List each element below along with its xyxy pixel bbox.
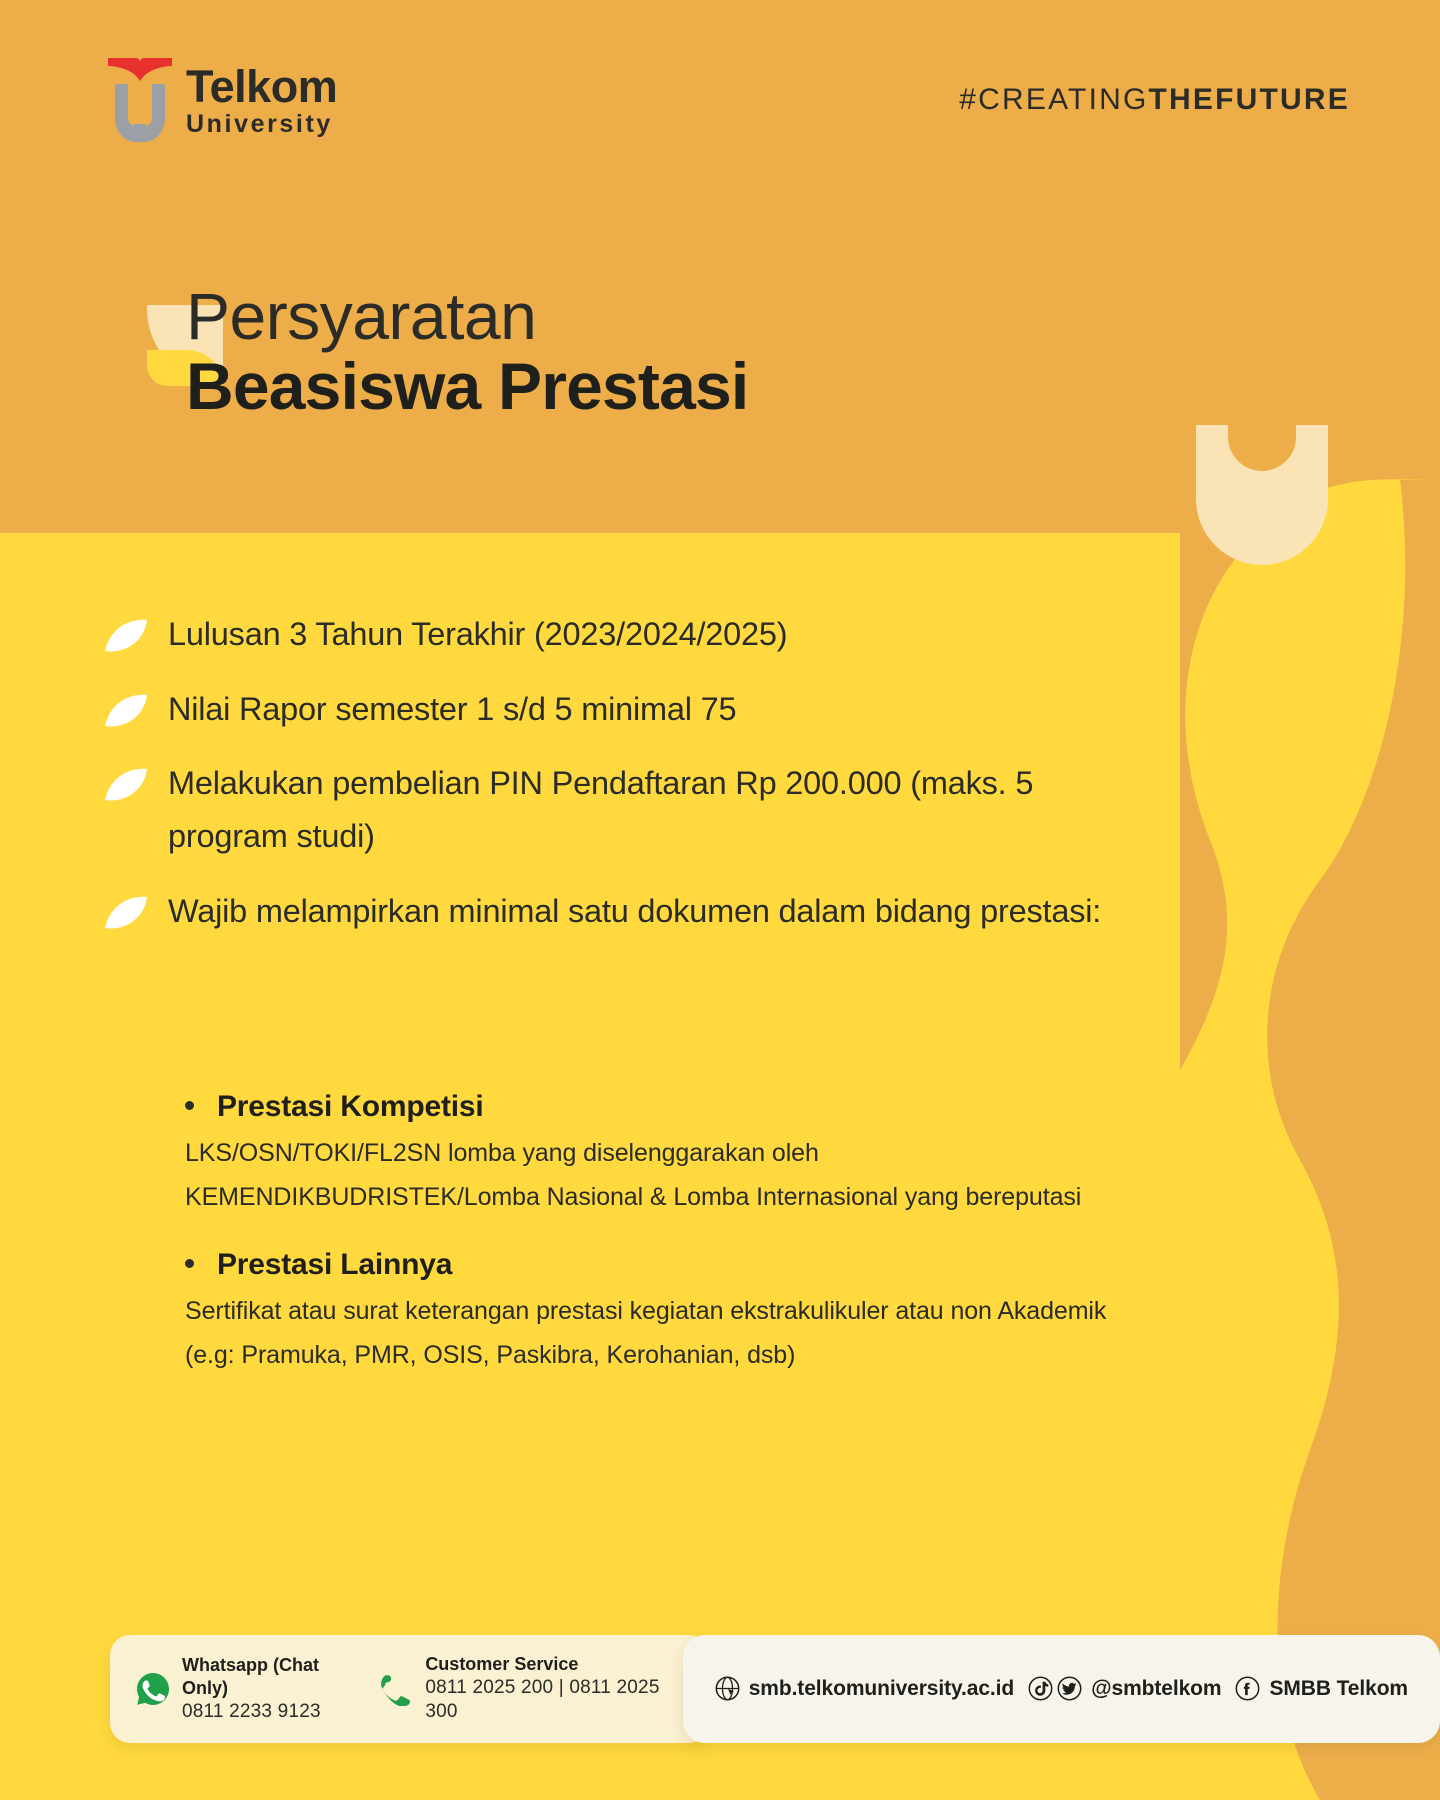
page-title-line1: Persyaratan: [186, 283, 748, 350]
leaf-bullet-icon: [104, 767, 148, 803]
tulip-decoration: [1196, 425, 1328, 565]
requirement-text: Wajib melampirkan minimal satu dokumen d…: [168, 885, 1101, 938]
requirement-text: Lulusan 3 Tahun Terakhir (2023/2024/2025…: [168, 608, 787, 661]
customer-service-text: Customer Service 0811 2025 200 | 0811 20…: [425, 1653, 674, 1725]
brand-tagline: #CREATINGTHEFUTURE: [959, 83, 1350, 117]
website-item[interactable]: smb.telkomuniversity.ac.id: [715, 1676, 1014, 1701]
requirements-list: Lulusan 3 Tahun Terakhir (2023/2024/2025…: [104, 608, 1104, 959]
online-channels-panel: smb.telkomuniversity.ac.id @smbtelkom: [683, 1635, 1440, 1743]
dot-bullet-icon: [185, 1101, 194, 1110]
social-handle-item[interactable]: @smbtelkom: [1028, 1676, 1221, 1701]
leaf-bullet-icon: [104, 895, 148, 931]
website-text: smb.telkomuniversity.ac.id: [749, 1677, 1014, 1701]
requirement-item: Melakukan pembelian PIN Pendaftaran Rp 2…: [104, 757, 1104, 862]
whatsapp-icon: [136, 1672, 170, 1706]
page-title-line2: Beasiswa Prestasi: [186, 350, 748, 424]
customer-service-number: 0811 2025 200 | 0811 2025 300: [425, 1676, 674, 1725]
logo-telkom-text: Telkom: [186, 64, 337, 109]
leaf-bullet-icon: [104, 618, 148, 654]
facebook-text: SMBB Telkom: [1269, 1677, 1408, 1701]
phone-contacts-panel: Whatsapp (Chat Only) 0811 2233 9123 Cust…: [110, 1635, 709, 1743]
contact-footer: Whatsapp (Chat Only) 0811 2233 9123 Cust…: [110, 1635, 1440, 1743]
customer-service-contact[interactable]: Customer Service 0811 2025 200 | 0811 20…: [379, 1653, 674, 1725]
requirement-text: Nilai Rapor semester 1 s/d 5 minimal 75: [168, 683, 736, 736]
social-handle-text: @smbtelkom: [1091, 1677, 1221, 1701]
top-bar: Telkom University #CREATINGTHEFUTURE: [0, 0, 1440, 200]
telkom-university-logo: Telkom University: [108, 58, 337, 142]
tagline-light-part: #CREATING: [959, 83, 1148, 116]
poster-root: Telkom University #CREATINGTHEFUTURE Per…: [0, 0, 1440, 1800]
whatsapp-number: 0811 2233 9123: [182, 1700, 353, 1724]
leaf-bullet-icon: [104, 693, 148, 729]
requirement-item: Lulusan 3 Tahun Terakhir (2023/2024/2025…: [104, 608, 1104, 661]
achievement-category-body: Sertifikat atau surat keterangan prestas…: [185, 1289, 1115, 1378]
achievement-category-title: Prestasi Lainnya: [217, 1248, 452, 1282]
whatsapp-label: Whatsapp (Chat Only): [182, 1654, 353, 1700]
logo-wordmark: Telkom University: [186, 64, 337, 137]
facebook-icon: [1235, 1676, 1260, 1701]
tiktok-icon: [1028, 1676, 1053, 1701]
achievement-category-body: LKS/OSN/TOKI/FL2SN lomba yang diselengga…: [185, 1131, 1115, 1220]
customer-service-label: Customer Service: [425, 1653, 674, 1676]
requirement-text: Melakukan pembelian PIN Pendaftaran Rp 2…: [168, 757, 1104, 862]
phone-icon: [379, 1672, 413, 1706]
achievement-category-heading: Prestasi Kompetisi: [185, 1090, 1115, 1124]
whatsapp-text: Whatsapp (Chat Only) 0811 2233 9123: [182, 1654, 353, 1724]
achievement-categories: Prestasi Kompetisi LKS/OSN/TOKI/FL2SN lo…: [185, 1090, 1115, 1405]
requirement-item: Nilai Rapor semester 1 s/d 5 minimal 75: [104, 683, 1104, 736]
twitter-icon: [1057, 1676, 1082, 1701]
page-title: Persyaratan Beasiswa Prestasi: [186, 283, 748, 424]
dot-bullet-icon: [185, 1259, 194, 1268]
u-shape-icon: [115, 84, 165, 142]
logo-mark-icon: [108, 58, 172, 142]
tagline-bold-part: THEFUTURE: [1149, 83, 1350, 116]
social-icons-group: [1028, 1676, 1082, 1701]
whatsapp-contact[interactable]: Whatsapp (Chat Only) 0811 2233 9123: [136, 1654, 353, 1724]
achievement-category-title: Prestasi Kompetisi: [217, 1090, 484, 1124]
facebook-item[interactable]: SMBB Telkom: [1235, 1676, 1408, 1701]
logo-university-text: University: [186, 112, 337, 137]
requirement-item: Wajib melampirkan minimal satu dokumen d…: [104, 885, 1104, 938]
achievement-category-heading: Prestasi Lainnya: [185, 1248, 1115, 1282]
globe-icon: [715, 1676, 740, 1701]
